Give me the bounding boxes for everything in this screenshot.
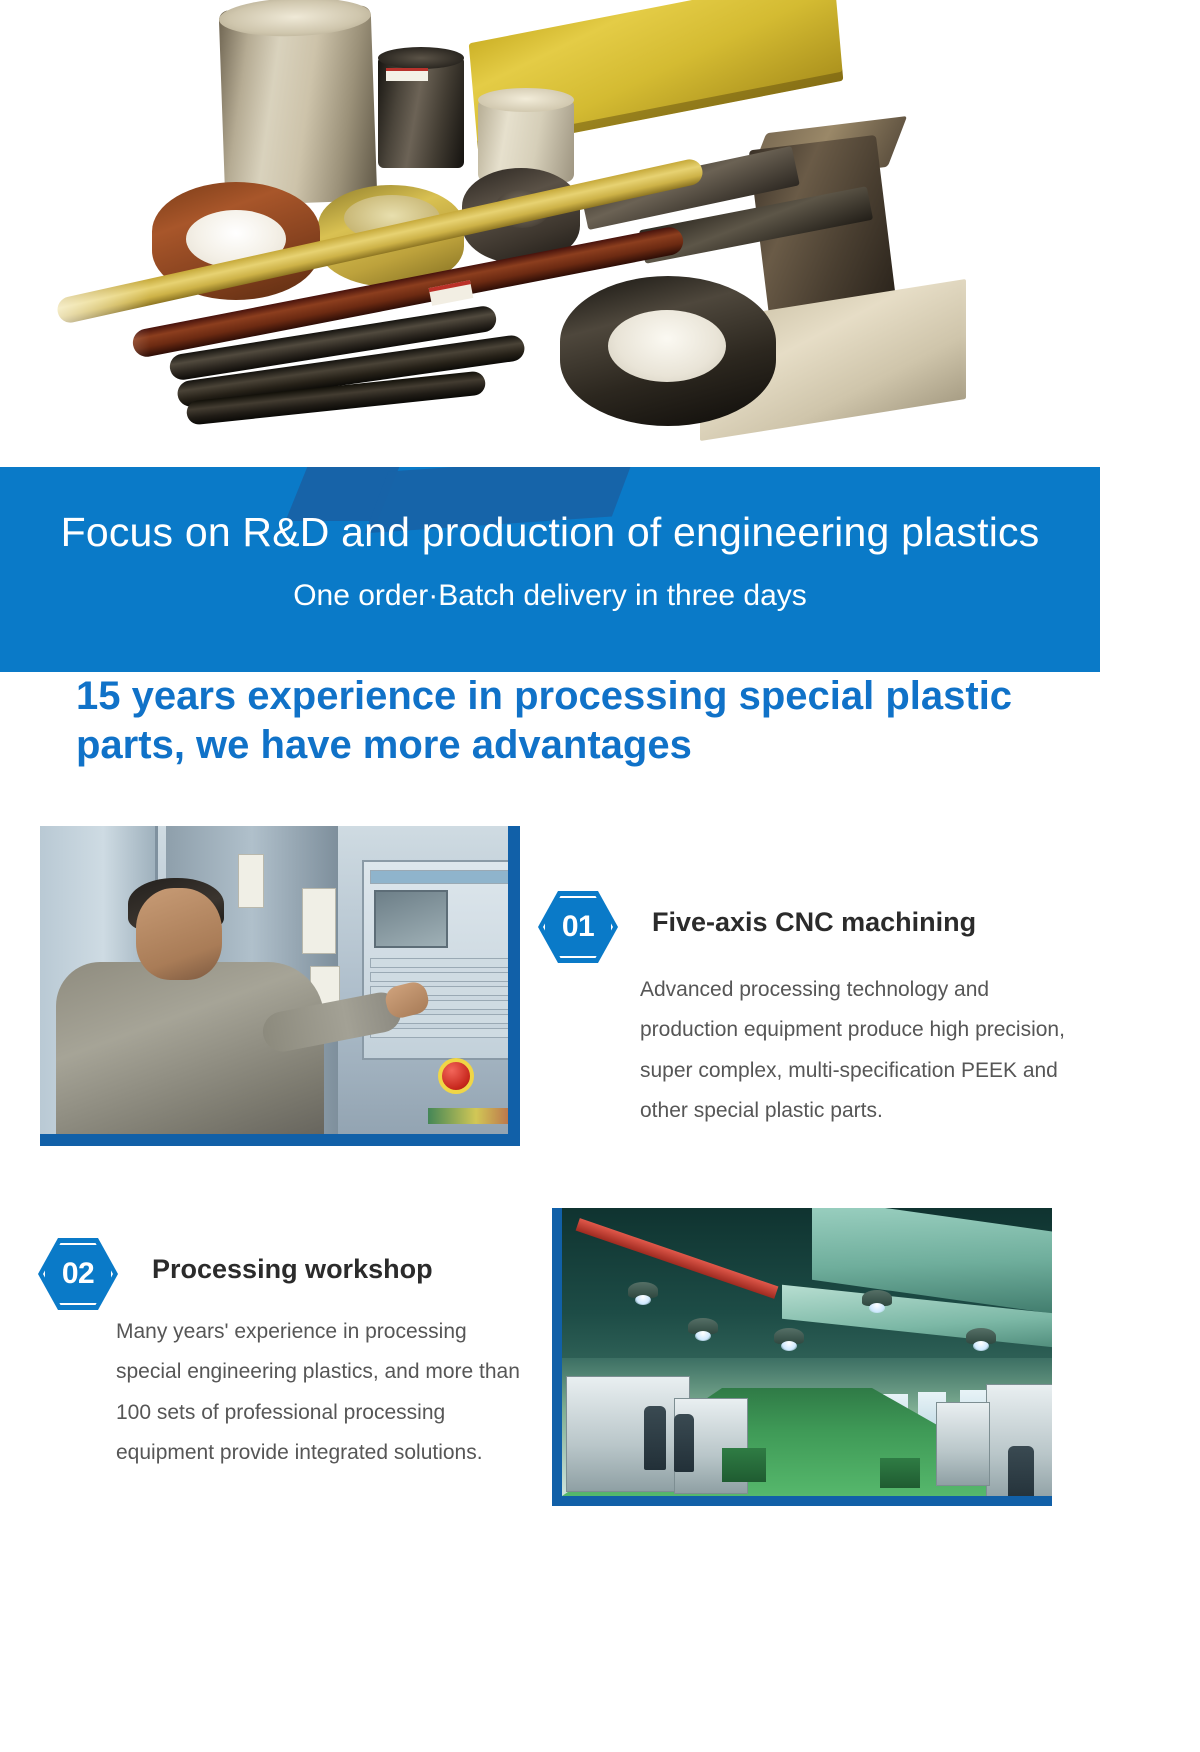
tagline-banner: Focus on R&D and production of engineeri…: [0, 467, 1100, 672]
section-title-02: Processing workshop: [152, 1254, 433, 1285]
section-body-02: Many years' experience in processing spe…: [116, 1312, 528, 1473]
banner-subheadline: One order·Batch delivery in three days: [0, 579, 1100, 613]
cnc-warning-sticker-2: [302, 888, 336, 954]
cnc-keypad-row-2: [370, 972, 516, 982]
operator-body: [56, 962, 324, 1146]
workshop-machine-4: [936, 1402, 990, 1486]
cnc-warning-sticker-1: [238, 854, 264, 908]
cnc-keypad-row-6: [370, 1028, 516, 1038]
workshop-cart-2: [880, 1458, 920, 1488]
workshop-machine-1: [566, 1376, 690, 1492]
section-number-01: 01: [538, 891, 618, 963]
hero-right-fade: [960, 0, 1100, 468]
product-black-ring-large: [560, 276, 776, 426]
section-title-01: Five-axis CNC machining: [652, 907, 976, 938]
workshop-worker-2: [674, 1414, 694, 1472]
operator-head: [136, 888, 222, 980]
section-number-02: 02: [38, 1238, 118, 1310]
hero-image-canvas: [0, 0, 1100, 468]
product-black-cylinder-small: [378, 56, 464, 168]
workshop-lamp-4: [862, 1290, 892, 1306]
product-tan-cylinder: [219, 5, 378, 205]
hero-left-fade: [0, 0, 150, 468]
workshop-worker-3: [1008, 1446, 1034, 1504]
hero-product-image: [0, 0, 1100, 468]
workshop-lamp-3: [774, 1328, 804, 1344]
section-badge-02: 02: [38, 1238, 118, 1310]
cnc-keypad-row-1: [370, 958, 516, 968]
banner-headline: Focus on R&D and production of engineeri…: [0, 509, 1100, 556]
workshop-worker-1: [644, 1406, 666, 1470]
product-label-sticker: [386, 68, 428, 81]
section-body-01: Advanced processing technology and produ…: [640, 970, 1072, 1131]
cnc-machining-image: [40, 826, 520, 1146]
section-badge-01: 01: [538, 891, 618, 963]
workshop-image: [552, 1208, 1052, 1506]
cnc-display-screen: [374, 890, 448, 948]
workshop-lamp-2: [688, 1318, 718, 1334]
cnc-panel-header: [370, 870, 516, 884]
cnc-emergency-stop-button: [438, 1058, 474, 1094]
cnc-indicator-strip: [428, 1108, 520, 1124]
workshop-lamp-5: [966, 1328, 996, 1344]
workshop-cart-1: [722, 1448, 766, 1482]
workshop-lamp-1: [628, 1282, 658, 1298]
page-title: 15 years experience in processing specia…: [76, 672, 1056, 770]
